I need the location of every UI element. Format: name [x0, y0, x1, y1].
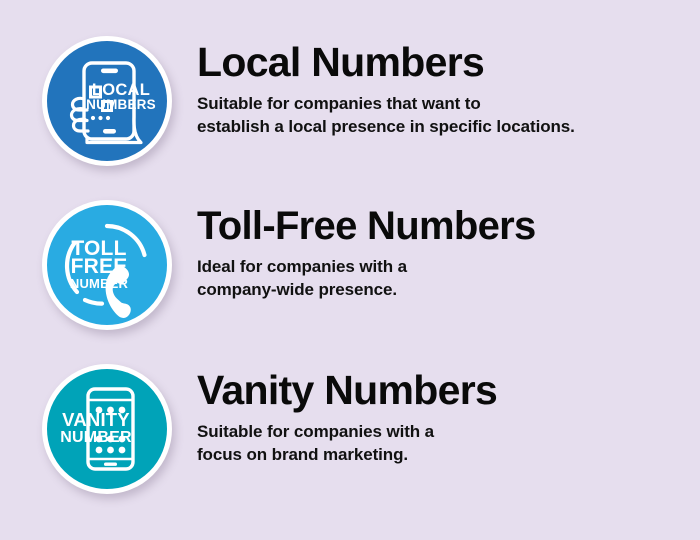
icon-label-line1: VANITY [62, 409, 130, 430]
local-numbers-icon-wrap: LOCAL NUMBERS [39, 33, 175, 169]
page-title: Toll-Free Numbers [197, 206, 700, 246]
description-line-1: Ideal for companies with a [197, 255, 700, 278]
icon-label-line3: NUMBER [70, 276, 129, 291]
vanity-icon-wrap: VANITY NUMBER [39, 361, 175, 497]
toll-free-icon-wrap: TOLL FREE NUMBER [39, 197, 175, 333]
toll-free-description: Ideal for companies with a company-wide … [197, 255, 700, 302]
description-line-2: establish a local presence in specific l… [197, 115, 700, 138]
list-item: TOLL FREE NUMBER Toll-Free Numbers Ideal… [0, 192, 700, 357]
description-line-1: Suitable for companies that want to [197, 92, 700, 115]
vanity-description: Suitable for companies with a focus on b… [197, 420, 700, 467]
page-title: Vanity Numbers [197, 370, 700, 411]
vanity-text: Vanity Numbers Suitable for companies wi… [197, 356, 700, 467]
infographic-root: LOCAL NUMBERS Local Numbers Suitable for… [0, 0, 700, 540]
icon-label-line2: NUMBER [60, 429, 132, 446]
hand-holding-phone-icon: LOCAL NUMBERS [42, 36, 172, 166]
page-title: Local Numbers [197, 42, 700, 83]
description-line-2: focus on brand marketing. [197, 443, 700, 466]
description-line-2: company-wide presence. [197, 278, 700, 301]
list-item: VANITY NUMBER Vanity Numbers Suitable fo… [0, 356, 700, 521]
toll-free-text: Toll-Free Numbers Ideal for companies wi… [197, 192, 700, 302]
description-line-1: Suitable for companies with a [197, 420, 700, 443]
icon-label-line2: FREE [71, 255, 128, 278]
phone-keypad-icon: VANITY NUMBER [42, 364, 172, 494]
list-item: LOCAL NUMBERS Local Numbers Suitable for… [0, 28, 700, 193]
phone-handset-ring-icon: TOLL FREE NUMBER [42, 200, 172, 330]
local-numbers-description: Suitable for companies that want to esta… [197, 92, 700, 139]
icon-label-line2: NUMBERS [86, 97, 156, 112]
local-numbers-text: Local Numbers Suitable for companies tha… [197, 28, 700, 139]
